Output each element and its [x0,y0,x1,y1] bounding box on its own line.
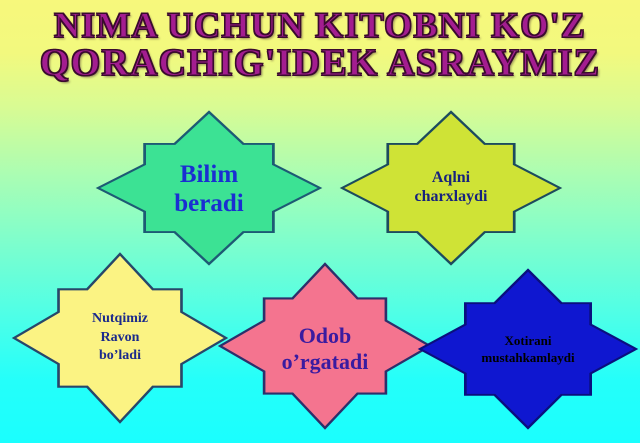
star-polygon-nutqimiz-icon [14,254,226,422]
star-shape-bilim-beradi[interactable]: Bilim beradi [98,112,320,264]
star-polygon-bilim-icon [98,112,320,264]
star-polygon-odob-icon [220,264,430,428]
star-shape-xotirani-mustahkamlaydi[interactable]: Xotirani mustahkamlaydi [420,270,636,428]
slide-canvas: NIMA UCHUN KITOBNI KO'Z QORACHIG'IDEK AS… [0,0,640,443]
page-title: NIMA UCHUN KITOBNI KO'Z QORACHIG'IDEK AS… [0,8,640,83]
star-shape-nutqimiz-ravon-boladi[interactable]: Nutqimiz Ravon bo’ladi [14,254,226,422]
title-line-2: QORACHIG'IDEK ASRAYMIZ [0,45,640,82]
star-shape-odob-orgatadi[interactable]: Odob o’rgatadi [220,264,430,428]
title-line-1: NIMA UCHUN KITOBNI KO'Z [0,8,640,43]
star-shape-aqlni-charxlaydi[interactable]: Aqlni charxlaydi [342,112,560,264]
star-polygon-xotirani-icon [420,270,636,428]
star-polygon-aqlni-icon [342,112,560,264]
